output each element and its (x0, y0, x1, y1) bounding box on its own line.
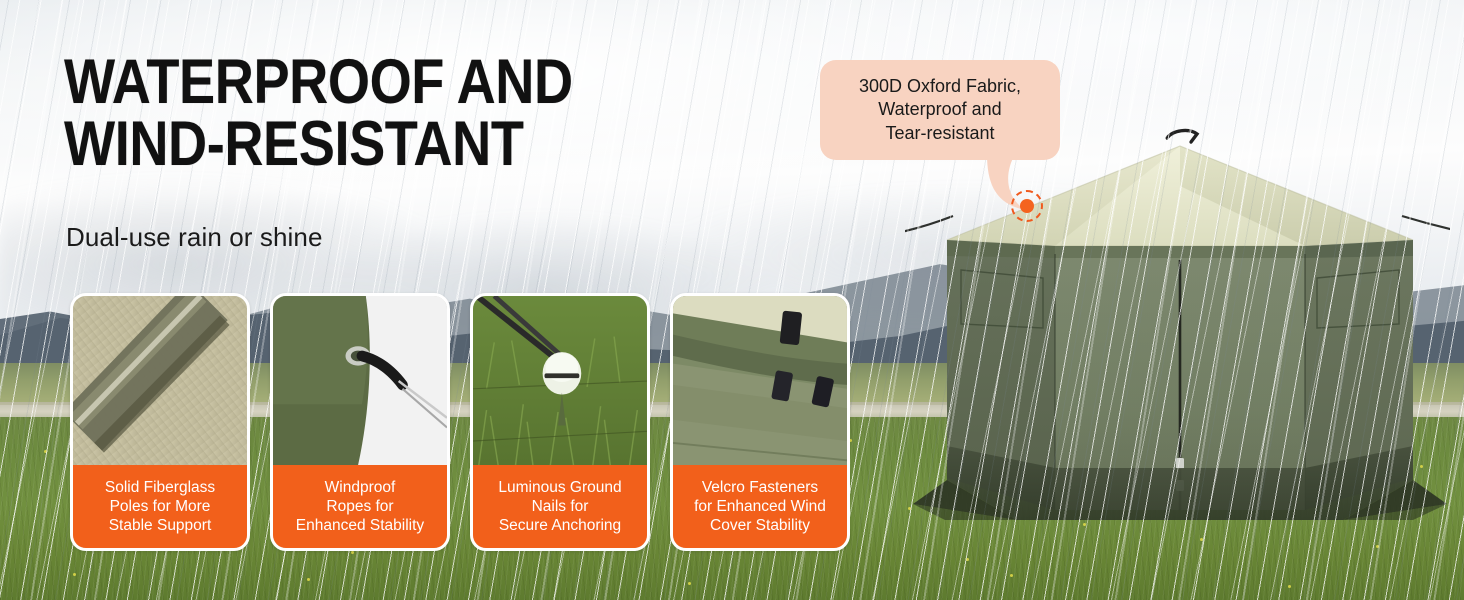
fiberglass-pole-image (73, 296, 247, 471)
feature-card-label: Velcro Fasteners for Enhanced Wind Cover… (673, 465, 847, 548)
velcro-strap-top (780, 311, 803, 346)
ground-stake-image (473, 296, 647, 471)
hotspot-marker[interactable] (1011, 190, 1043, 222)
feature-card-label: Windproof Ropes for Enhanced Stability (273, 465, 447, 548)
feature-card-label: Solid Fiberglass Poles for More Stable S… (73, 465, 247, 548)
roof-peak-hook (1167, 131, 1197, 142)
callout-bubble: 300D Oxford Fabric, Waterproof and Tear-… (820, 60, 1060, 160)
feature-card[interactable]: Solid Fiberglass Poles for More Stable S… (70, 293, 250, 551)
velcro-fastener-image (673, 296, 847, 471)
product-feature-banner: WATERPROOF AND WIND-RESISTANT Dual-use r… (0, 0, 1464, 600)
feature-card-label: Luminous Ground Nails for Secure Anchori… (473, 465, 647, 548)
hotspot-dot-icon (1020, 199, 1034, 213)
feature-card-list: Solid Fiberglass Poles for More Stable S… (70, 293, 852, 551)
guy-rope-grommet-image (273, 296, 447, 471)
callout-text: 300D Oxford Fabric, Waterproof and Tear-… (859, 75, 1021, 145)
feature-card[interactable]: Velcro Fasteners for Enhanced Wind Cover… (670, 293, 850, 551)
callout-bubble-body: 300D Oxford Fabric, Waterproof and Tear-… (820, 60, 1060, 160)
feature-card[interactable]: Windproof Ropes for Enhanced Stability (270, 293, 450, 551)
feature-card[interactable]: Luminous Ground Nails for Secure Anchori… (470, 293, 650, 551)
subtitle: Dual-use rain or shine (66, 222, 323, 253)
page-title: WATERPROOF AND WIND-RESISTANT (64, 52, 573, 175)
